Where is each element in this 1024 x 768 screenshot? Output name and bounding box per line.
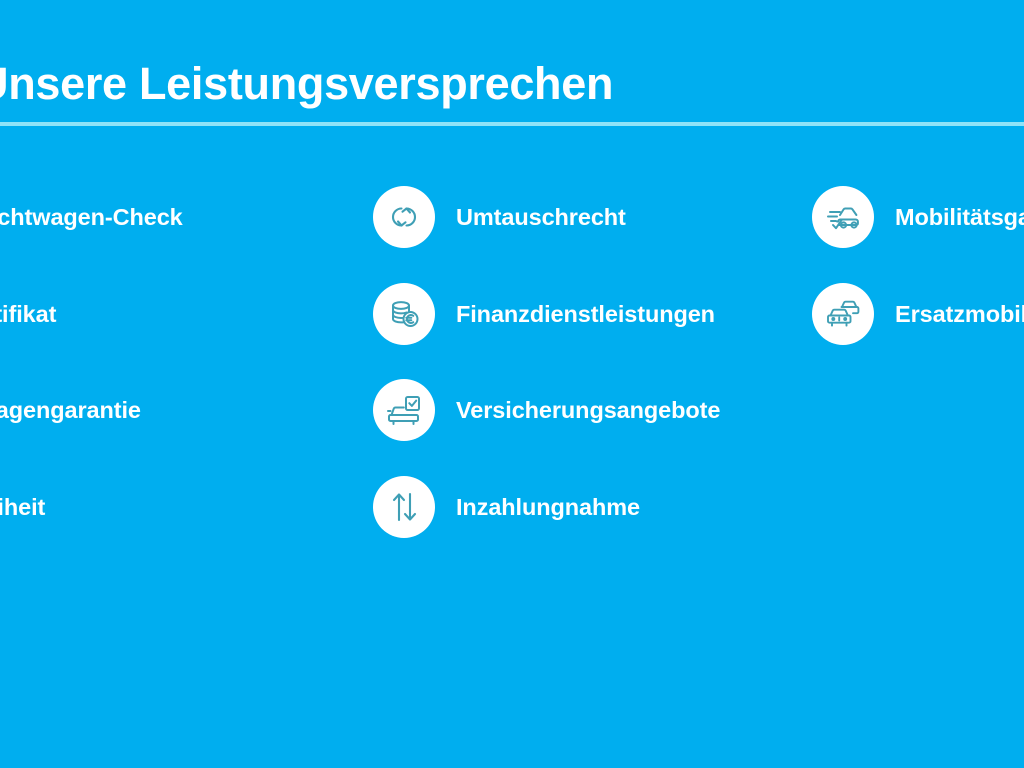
feature-column-1: 360° Gebrauchtwagen-Check Qualitätszerti…: [0, 186, 218, 572]
exchange-arrows-icon: [373, 186, 435, 248]
feature-item[interactable]: Versicherungsangebote: [373, 379, 813, 476]
feature-item[interactable]: Wartungsfreiheit: [0, 476, 218, 573]
seal-line-2: Gebrauchtwagen: [0, 654, 258, 684]
feature-item[interactable]: Gebrauchtwagengarantie: [0, 379, 218, 476]
slide-canvas: Unsere Leistungsversprechen 360° Gebrauc…: [0, 0, 1024, 768]
feature-column-2: Umtauschrecht Finanz: [373, 186, 813, 572]
feature-label: Versicherungsangebote: [456, 379, 720, 441]
feature-item[interactable]: Qualitätszertifikat: [0, 283, 218, 380]
features-grid: 360° Gebrauchtwagen-Check Qualitätszerti…: [0, 186, 1024, 586]
feature-label: Ersatzmobilität: [895, 283, 1024, 345]
feature-item[interactable]: Umtauschrecht: [373, 186, 813, 283]
seal-line-1: Zertifizierte: [0, 624, 258, 654]
feature-item[interactable]: Inzahlungnahme: [373, 476, 813, 573]
car-speed-check-icon: [812, 186, 874, 248]
feature-label: Mobilitätsgarantie: [895, 186, 1024, 248]
feature-item[interactable]: Finanzdienstleistungen: [373, 283, 813, 380]
feature-label: Umtauschrecht: [456, 186, 626, 248]
page-title: Unsere Leistungsversprechen: [0, 56, 1024, 112]
car-checkbox-icon: [373, 379, 435, 441]
certified-used-cars-seal: Zertifizierte Gebrauchtwagen: [0, 624, 258, 684]
feature-item[interactable]: Ersatzmobilität: [812, 283, 1024, 380]
title-divider: [0, 122, 1024, 126]
feature-label: Qualitätszertifikat: [0, 283, 56, 345]
coins-euro-icon: [373, 283, 435, 345]
feature-label: Inzahlungnahme: [456, 476, 640, 538]
feature-label: 360° Gebrauchtwagen-Check: [0, 186, 183, 248]
feature-item[interactable]: Mobilitätsgarantie: [812, 186, 1024, 283]
feature-item[interactable]: 360° Gebrauchtwagen-Check: [0, 186, 218, 283]
feature-label: Gebrauchtwagengarantie: [0, 379, 141, 441]
two-cars-icon: [812, 283, 874, 345]
feature-column-3: Mobilitätsgarantie E: [812, 186, 1024, 379]
up-down-arrows-icon: [373, 476, 435, 538]
feature-label: Finanzdienstleistungen: [456, 283, 715, 345]
feature-label: Wartungsfreiheit: [0, 476, 45, 538]
